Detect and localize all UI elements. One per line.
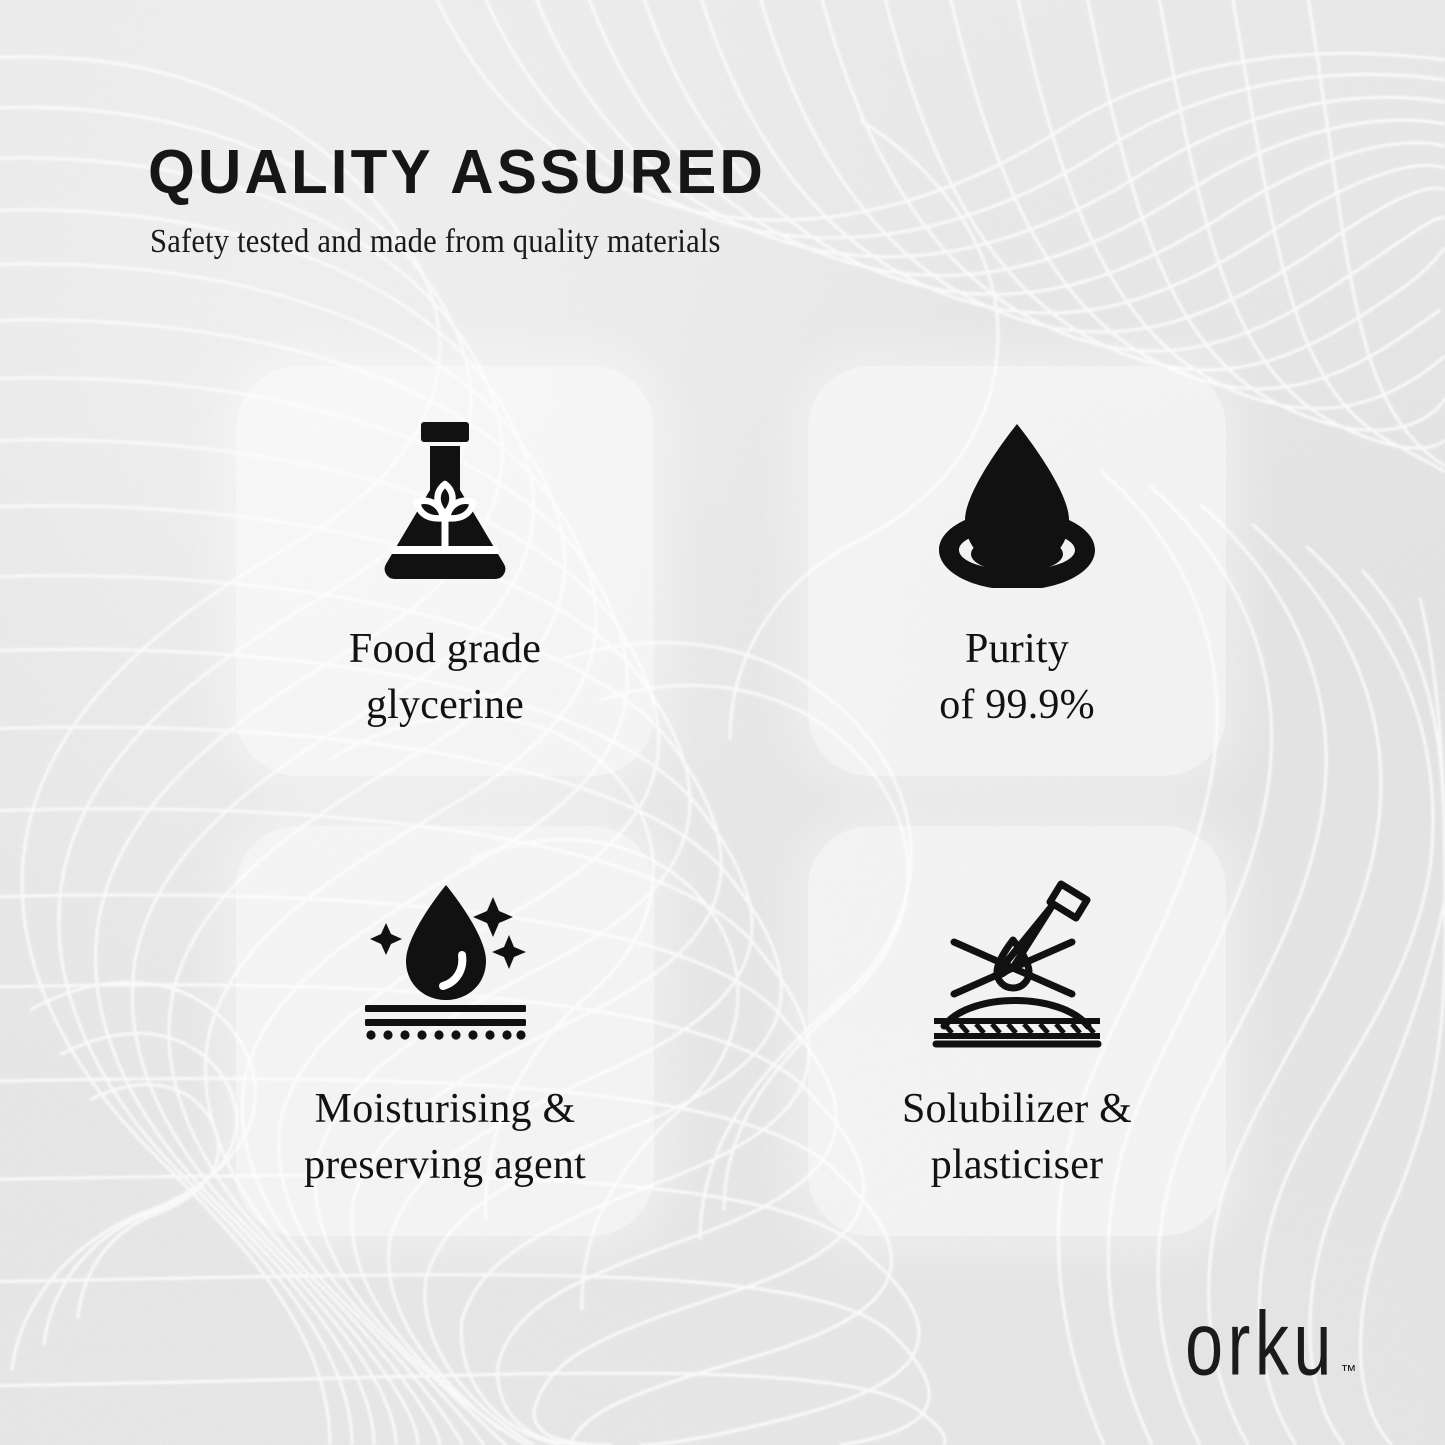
feature-card-purity: Purity of 99.9% [808, 366, 1226, 776]
feature-label-line-1: Food grade [349, 626, 541, 672]
feature-card-label: Solubilizer & plasticiser [902, 1082, 1132, 1194]
header: QUALITY ASSURED Safety tested and made f… [148, 140, 1248, 261]
feature-card-label: Purity of 99.9% [939, 622, 1095, 734]
pipette-dropper-surface-icon [930, 878, 1105, 1048]
brand-logo: orku ™ [1172, 1317, 1357, 1387]
feature-label-line-2: glycerine [349, 678, 541, 734]
feature-label-line-1: Solubilizer & [902, 1086, 1132, 1132]
feature-label-line-1: Moisturising & [315, 1086, 576, 1132]
feature-card-food-grade-glycerine: Food grade glycerine [236, 366, 654, 776]
feature-label-line-1: Purity [965, 626, 1069, 672]
page-subtitle: Safety tested and made from quality mate… [150, 223, 1138, 261]
feature-card-label: Food grade glycerine [349, 622, 541, 734]
feature-card-moisturising: Moisturising & preserving agent [236, 826, 654, 1236]
feature-label-line-2: of 99.9% [939, 678, 1095, 734]
droplet-sparkle-hydration-icon [363, 878, 528, 1048]
page-title: QUALITY ASSURED [148, 140, 1215, 205]
feature-label-line-2: plasticiser [902, 1138, 1132, 1194]
infographic-page: QUALITY ASSURED Safety tested and made f… [0, 0, 1445, 1445]
brand-logo-wordmark: orku [1185, 1301, 1336, 1387]
flask-plant-icon [375, 418, 515, 588]
water-droplet-ripple-icon [937, 418, 1097, 588]
feature-card-solubilizer: Solubilizer & plasticiser [808, 826, 1226, 1236]
feature-card-label: Moisturising & preserving agent [304, 1082, 586, 1194]
feature-card-grid: Food grade glycerine P [236, 366, 1226, 1236]
feature-label-line-2: preserving agent [304, 1138, 586, 1194]
trademark-symbol: ™ [1341, 1363, 1358, 1381]
